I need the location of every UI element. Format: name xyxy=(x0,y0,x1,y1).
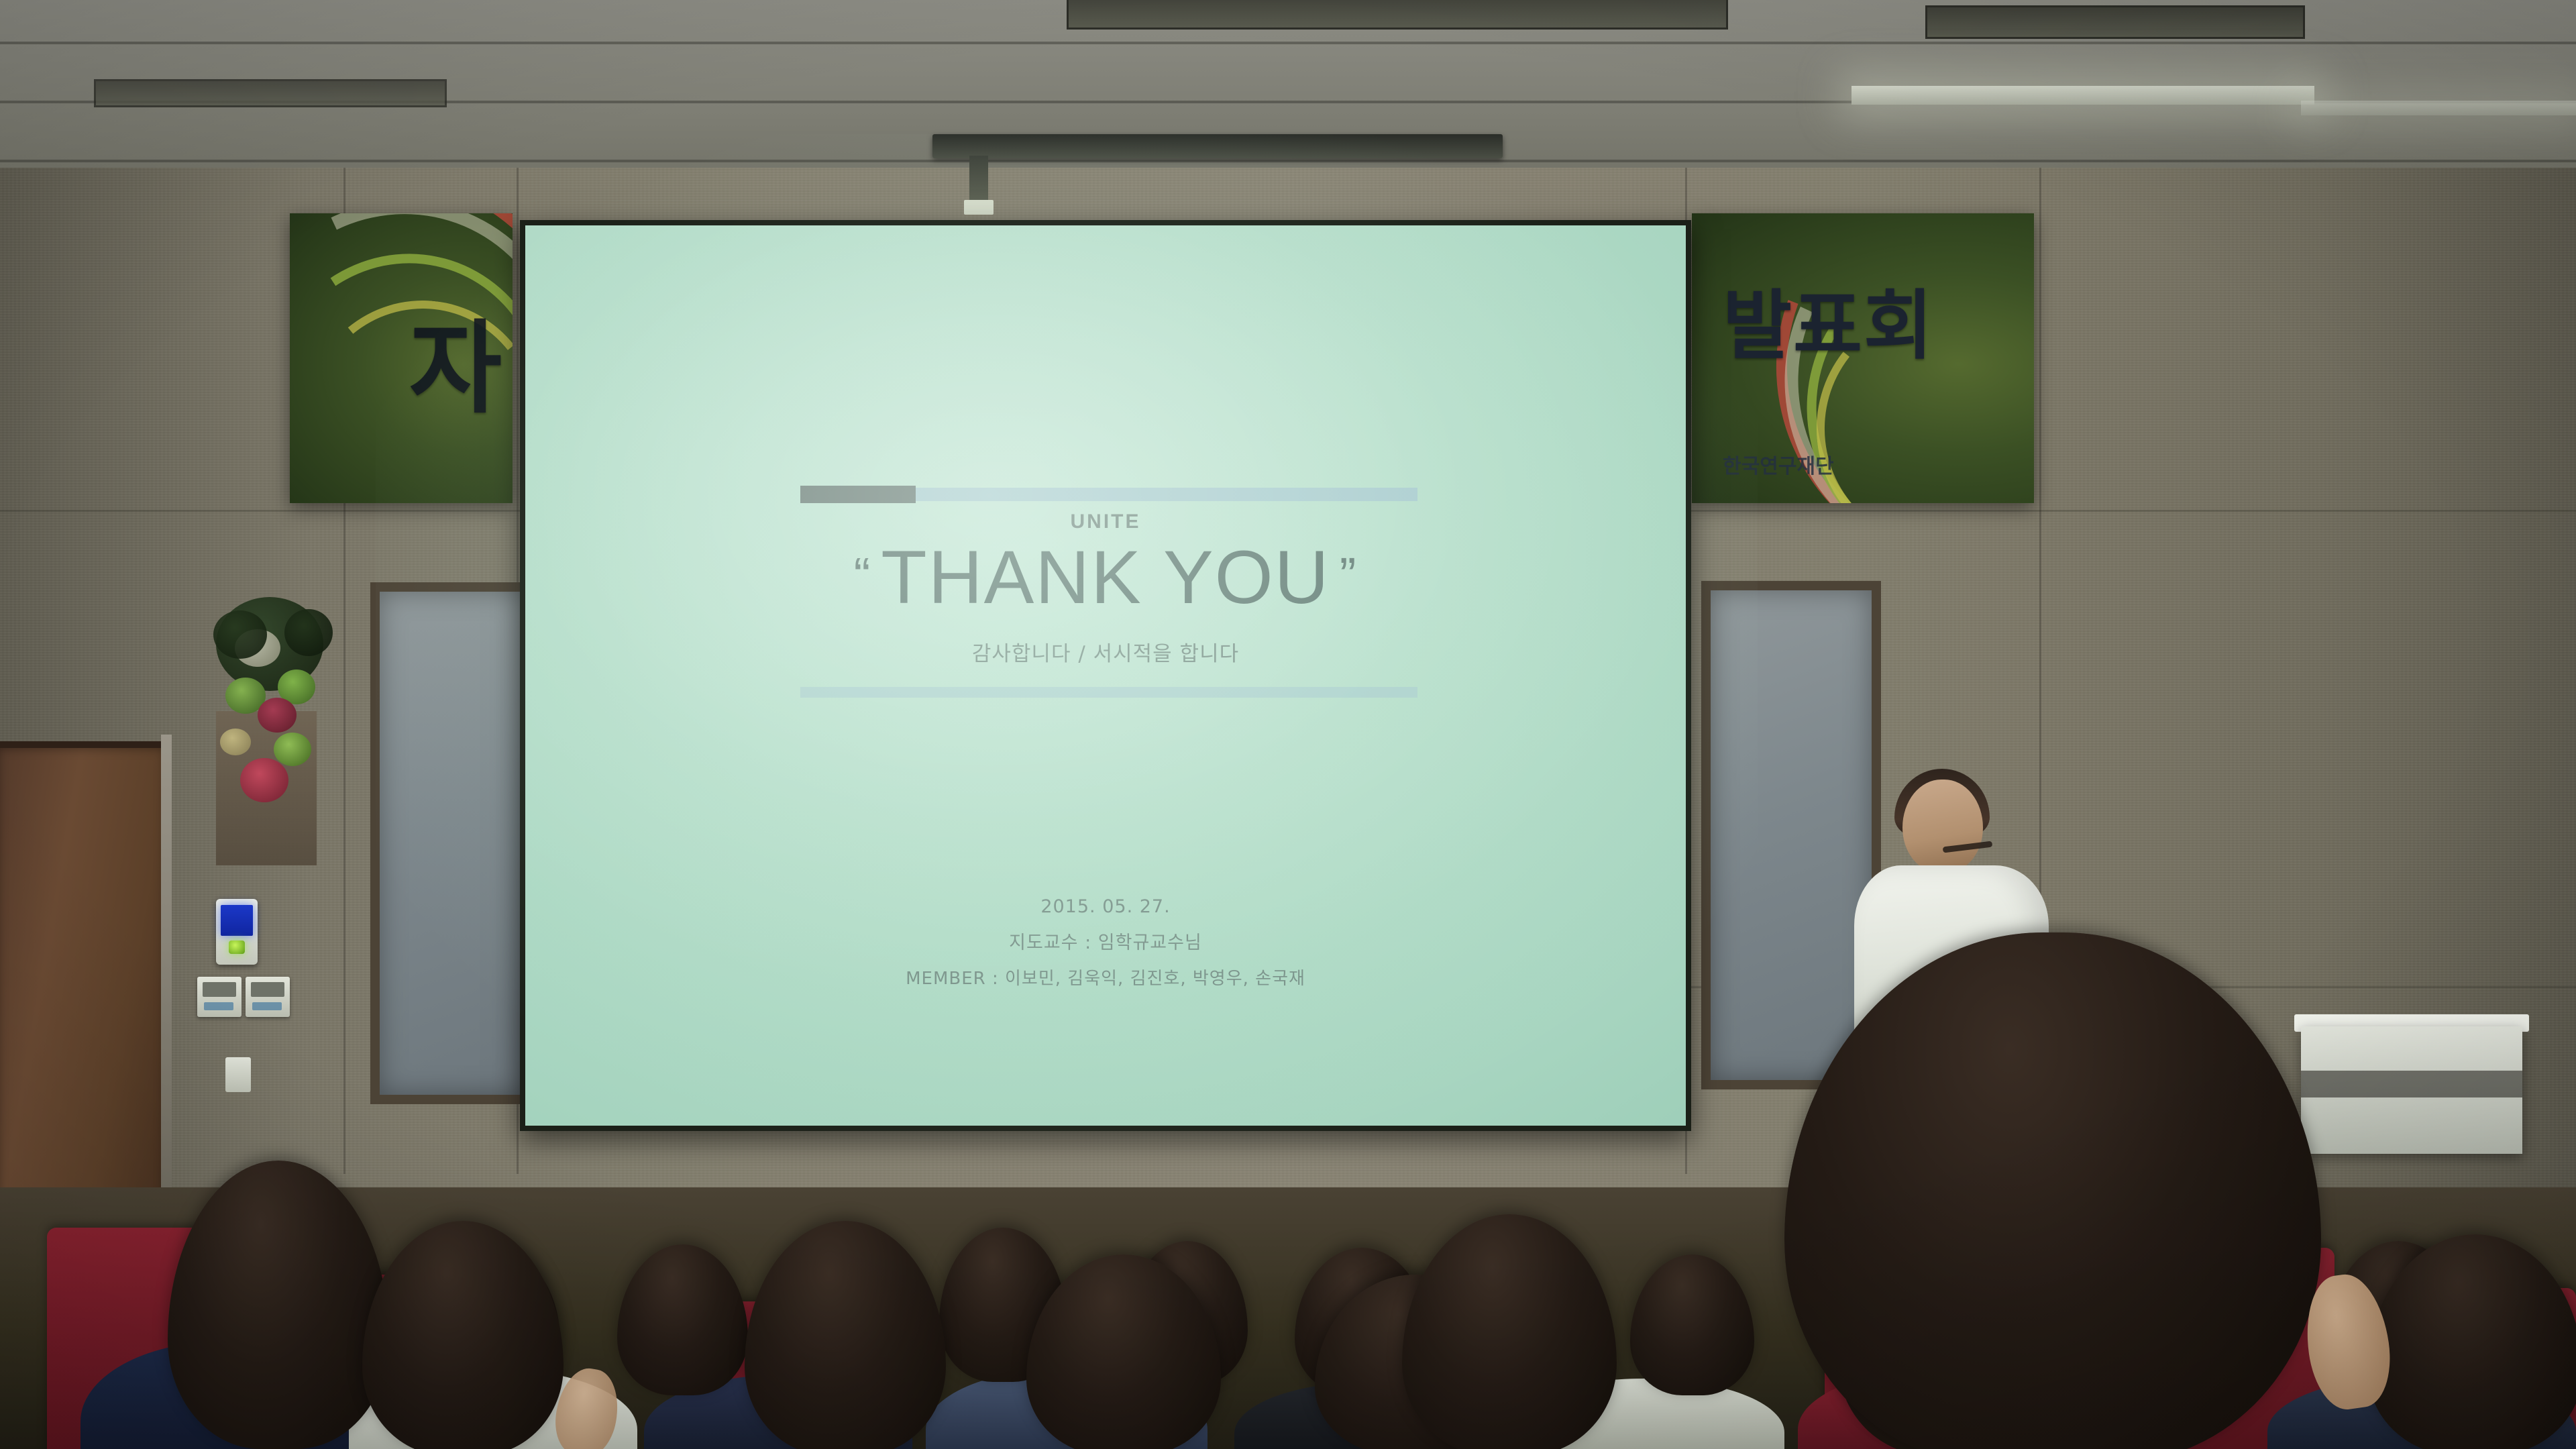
banner-left-text: 자 xyxy=(409,287,503,433)
banner-right-subtext: 한국연구재단 xyxy=(1723,449,1834,479)
foliage xyxy=(213,610,267,659)
audience-head xyxy=(617,1244,748,1395)
ceiling-vent xyxy=(94,79,447,107)
screen-bracket-cap xyxy=(964,200,994,215)
quote-open: “ xyxy=(845,547,881,603)
slide-unite-label: UNITE xyxy=(525,511,1686,533)
slide-top-bar xyxy=(800,486,1417,503)
ceiling-tile-line xyxy=(0,160,2576,162)
flower-green xyxy=(274,733,311,766)
screen-bracket xyxy=(969,156,988,203)
reader-screen xyxy=(221,905,253,936)
foliage xyxy=(284,609,333,656)
slide-headline-text: THANK YOU xyxy=(881,535,1330,619)
flower-pink xyxy=(258,698,297,733)
lecture-hall-photo: 자 발표회 한국연구재단 xyxy=(0,0,2576,1449)
ceiling-light xyxy=(2301,101,2576,115)
audience-head xyxy=(1402,1214,1617,1449)
screen-valance xyxy=(932,134,1503,158)
slide-bar-dark xyxy=(800,486,916,503)
audience-head xyxy=(1630,1254,1754,1395)
audience-head xyxy=(745,1221,946,1449)
slide-subtitle: 감사합니다 / 서시적을 합니다 xyxy=(525,637,1686,667)
slide-headline: “THANK YOU” xyxy=(525,534,1686,621)
banner-right-text: 발표회 xyxy=(1723,288,1934,364)
audience-head-foreground xyxy=(1784,932,2321,1449)
flower-arrangement xyxy=(196,590,343,872)
banner-right: 발표회 한국연구재단 xyxy=(1692,213,2034,503)
ceiling-light xyxy=(1851,86,2314,105)
audience-head xyxy=(362,1221,563,1449)
presenter-head xyxy=(1902,780,1983,872)
slide-bottom-bar xyxy=(800,687,1417,698)
banner-left: 자 xyxy=(290,213,513,503)
ceiling-tile-line xyxy=(0,42,2576,44)
slide-bar-light xyxy=(916,488,1417,501)
audience xyxy=(0,939,2576,1449)
audience-head xyxy=(168,1161,389,1449)
ceiling-vent xyxy=(1925,5,2305,39)
credits-date: 2015. 05. 27. xyxy=(525,896,1686,917)
flower-yellow xyxy=(220,729,251,755)
ceiling-vent xyxy=(1067,0,1728,30)
flower-pink xyxy=(240,758,288,802)
quote-close: ” xyxy=(1330,547,1367,603)
